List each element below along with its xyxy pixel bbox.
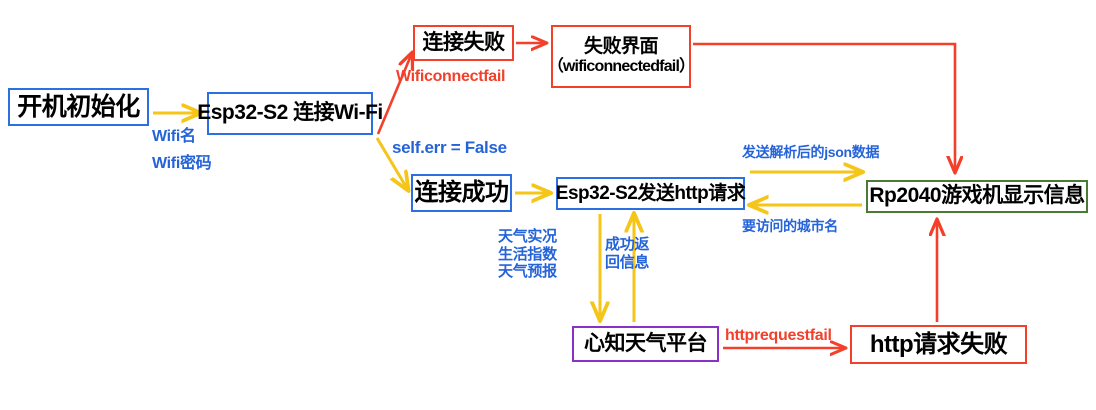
node-connect-failed-label: 连接失败 (423, 31, 505, 55)
node-connect-failed[interactable]: 连接失败 (413, 25, 514, 61)
node-seniverse-weather-platform[interactable]: 心知天气平台 (572, 326, 719, 362)
edge-label-wifi-password: Wifi密码 (152, 155, 211, 174)
edge-label-request-items: 天气实况 生活指数 天气预报 (498, 228, 557, 281)
edge-esp-wifi-to-conn-fail (378, 53, 412, 134)
edge-label-wifi-connect-fail: Wificonnectfail (396, 68, 505, 87)
edge-label-wifi-name: Wifi名 (152, 128, 196, 147)
flowchart-canvas: 开机初始化 Esp32-S2 连接Wi-Fi 连接失败 失败界面 （wifico… (0, 0, 1096, 410)
node-http-request-failed-label: http请求失败 (870, 331, 1007, 359)
node-rp2040-display-info-label: Rp2040游戏机显示信息 (869, 184, 1084, 208)
node-esp32-send-http-request-label: Esp32-S2发送http请求 (556, 183, 745, 205)
node-connect-success-label: 连接成功 (415, 179, 509, 207)
node-failure-screen-label: 失败界面 (584, 36, 658, 58)
node-boot-init-label: 开机初始化 (17, 93, 140, 122)
node-esp32-connect-wifi-label: Esp32-S2 连接Wi-Fi (197, 101, 383, 125)
edge-label-self-err-false: self.err = False (392, 138, 507, 158)
edge-label-city-name: 要访问的城市名 (742, 218, 838, 235)
edge-label-request-items-line-3: 天气预报 (498, 263, 557, 281)
node-esp32-send-http-request[interactable]: Esp32-S2发送http请求 (556, 177, 745, 210)
node-failure-screen-sublabel: （wificonnectedfail） (548, 58, 695, 76)
node-rp2040-display-info[interactable]: Rp2040游戏机显示信息 (866, 180, 1088, 213)
node-seniverse-weather-platform-label: 心知天气平台 (584, 332, 707, 356)
node-boot-init[interactable]: 开机初始化 (8, 88, 149, 126)
edge-label-http-request-fail: httprequestfail (725, 327, 832, 346)
node-connect-success[interactable]: 连接成功 (411, 174, 512, 212)
edge-label-request-items-line-2: 生活指数 (498, 246, 557, 264)
node-failure-screen[interactable]: 失败界面 （wificonnectedfail） (551, 25, 691, 88)
edge-label-send-json-data: 发送解析后的json数据 (742, 144, 879, 161)
edge-label-request-items-line-1: 天气实况 (498, 228, 557, 246)
edge-label-return-success-line-2: 回信息 (605, 254, 649, 272)
node-http-request-failed[interactable]: http请求失败 (850, 325, 1027, 364)
edge-label-return-success-line-1: 成功返 (605, 236, 649, 254)
node-esp32-connect-wifi[interactable]: Esp32-S2 连接Wi-Fi (207, 92, 373, 135)
edge-label-return-success: 成功返 回信息 (605, 236, 649, 271)
